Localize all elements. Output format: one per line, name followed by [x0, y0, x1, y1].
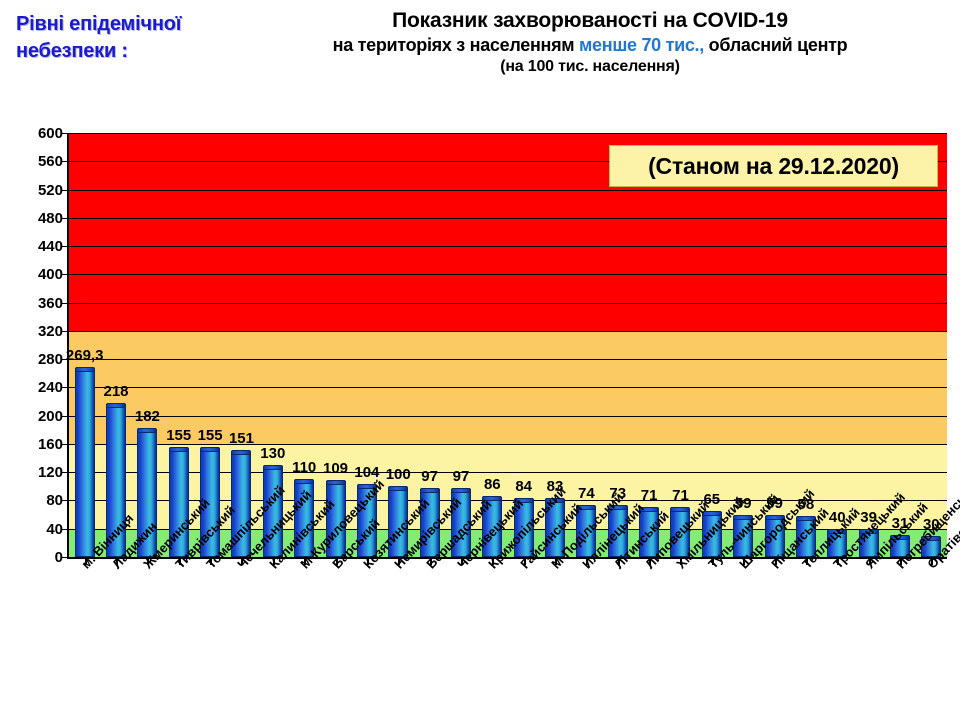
y-axis-tick-mark [62, 500, 69, 501]
bar-value-label: 74 [578, 486, 595, 501]
bar-top-cap [263, 465, 283, 470]
y-axis-tick-mark [62, 218, 69, 219]
y-axis-tick-label: 360 [5, 296, 63, 311]
y-axis-tick-mark [62, 303, 69, 304]
bar-top-cap [388, 486, 408, 491]
chart-subtitle-prefix: на територіях з населенням [333, 35, 579, 55]
y-axis-tick-label: 40 [5, 522, 63, 537]
chart-subtitle-highlight: менше 70 тис., [579, 35, 704, 55]
chart-title-line-3: (на 100 тис. населення) [240, 57, 940, 78]
bar-value-label: 97 [421, 469, 438, 484]
y-axis-tick-label: 120 [5, 465, 63, 480]
bar-value-label: 97 [453, 469, 470, 484]
bar-top-cap [169, 447, 189, 452]
bar-slot: 71 [633, 133, 664, 557]
bar-value-label: 110 [292, 460, 316, 475]
bar-slot: 40 [822, 133, 853, 557]
bar-slot: 269,3 [69, 133, 100, 557]
bar-slot: 74 [571, 133, 602, 557]
bar-slot: 109 [320, 133, 351, 557]
page-header: Рівні епідемічної небезпеки : Показник з… [0, 0, 960, 112]
bar-slot: 39 [853, 133, 884, 557]
bar [75, 367, 95, 557]
bar-slot: 30 [916, 133, 947, 557]
bar-value-label: 71 [641, 488, 658, 503]
chart-title-line-1: Показник захворюваності на COVID-19 [240, 8, 940, 34]
bar-value-label: 71 [672, 488, 689, 503]
y-axis-tick-mark [62, 529, 69, 530]
y-axis-tick-label: 600 [5, 126, 63, 141]
bar-value-label: 182 [135, 409, 160, 424]
bar-slot: 59 [728, 133, 759, 557]
bar-slot: 182 [132, 133, 163, 557]
chart-subtitle-suffix: обласний центр [704, 35, 847, 55]
bar-top-cap [137, 428, 157, 433]
y-axis-tick-mark [62, 557, 69, 558]
bar-value-label: 109 [323, 461, 348, 476]
y-axis-tick-label: 160 [5, 437, 63, 452]
bar-slot: 71 [665, 133, 696, 557]
bar-slot: 218 [100, 133, 131, 557]
y-axis-tick-label: 0 [5, 550, 63, 565]
y-axis-tick-mark [62, 274, 69, 275]
y-axis-tick-label: 240 [5, 380, 63, 395]
y-axis-tick-mark [62, 133, 69, 134]
y-axis-tick-label: 400 [5, 267, 63, 282]
bar-value-label: 151 [229, 431, 254, 446]
y-axis-tick-mark [62, 416, 69, 417]
bar-top-cap [106, 403, 126, 408]
chart-area: 0408012016020024028032036040044048052056… [0, 112, 960, 720]
bar-value-label: 269,3 [66, 348, 104, 363]
bar-value-label: 155 [198, 428, 223, 443]
bar-value-label: 100 [386, 467, 411, 482]
bar-slot: 97 [414, 133, 445, 557]
bar-value-label: 130 [260, 446, 285, 461]
chart-title-block: Показник захворюваності на COVID-19 на т… [240, 8, 940, 78]
bar-top-cap [75, 367, 95, 372]
bar-slot: 97 [445, 133, 476, 557]
bar-top-cap [326, 480, 346, 485]
y-axis-tick-mark [62, 161, 69, 162]
y-axis-tick-mark [62, 246, 69, 247]
y-axis-tick-label: 200 [5, 409, 63, 424]
y-axis-tick-mark [62, 472, 69, 473]
status-date-badge: (Станом на 29.12.2020) [609, 145, 938, 187]
bar-slot: 155 [163, 133, 194, 557]
chart-title-line-2: на територіях з населенням менше 70 тис.… [240, 34, 940, 57]
y-axis-tick-mark [62, 444, 69, 445]
bar-value-label: 86 [484, 477, 501, 492]
y-axis-tick-label: 320 [5, 324, 63, 339]
y-axis-tick-mark [62, 190, 69, 191]
bar-value-label: 218 [104, 384, 129, 399]
bar-top-cap [451, 488, 471, 493]
y-axis-tick-label: 480 [5, 211, 63, 226]
y-axis-tick-label: 520 [5, 183, 63, 198]
bar-top-cap [200, 447, 220, 452]
bar-slot: 100 [383, 133, 414, 557]
bar-slot: 84 [508, 133, 539, 557]
bar-top-cap [231, 450, 251, 455]
y-axis-tick-mark [62, 331, 69, 332]
bar-value-label: 155 [166, 428, 191, 443]
bar-slot: 86 [477, 133, 508, 557]
bar-top-cap [420, 488, 440, 493]
bar-slot: 155 [194, 133, 225, 557]
y-axis-tick-mark [62, 387, 69, 388]
y-axis-tick-label: 560 [5, 154, 63, 169]
bar-value-label: 84 [515, 479, 532, 494]
bar-top-cap [294, 479, 314, 484]
y-axis-tick-label: 80 [5, 493, 63, 508]
bar-slot: 65 [696, 133, 727, 557]
y-axis-tick-label: 280 [5, 352, 63, 367]
bar-slot: 151 [226, 133, 257, 557]
y-axis-tick-label: 440 [5, 239, 63, 254]
